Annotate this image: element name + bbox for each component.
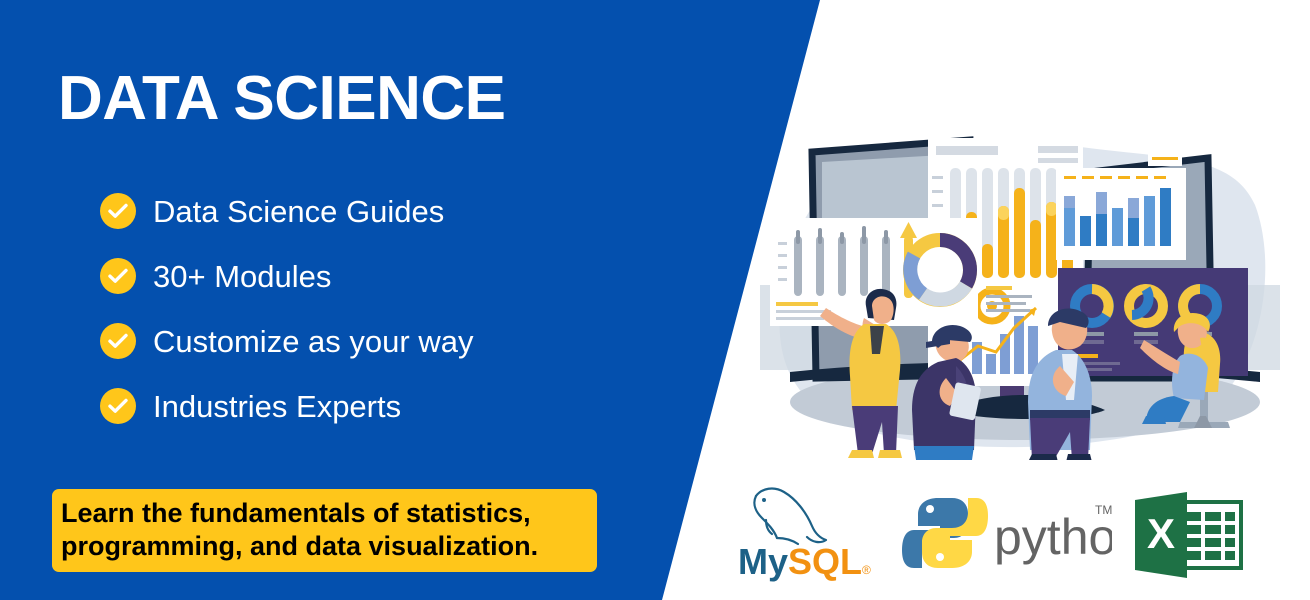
svg-text:®: ® xyxy=(862,563,871,577)
svg-text:My: My xyxy=(738,541,788,582)
check-circle-icon xyxy=(100,388,136,424)
check-circle-icon xyxy=(100,323,136,359)
check-circle-icon xyxy=(100,193,136,229)
svg-text:X: X xyxy=(1147,510,1175,557)
data-analytics-team-illustration xyxy=(760,110,1280,460)
check-circle-icon xyxy=(100,258,136,294)
highlight-line-2: programming, and data visualization. xyxy=(61,530,589,563)
excel-logo: X xyxy=(1125,488,1255,583)
highlight-line-1: Learn the fundamentals of statistics, xyxy=(61,497,589,530)
list-item-label: Industries Experts xyxy=(153,391,401,422)
left-content: DATA SCIENCE Data Science Guides 30+ Mod… xyxy=(0,0,660,600)
list-item-label: Data Science Guides xyxy=(153,196,444,227)
list-item-label: 30+ Modules xyxy=(153,261,331,292)
technology-logos: My SQL ® python TM xyxy=(700,478,1300,588)
svg-text:TM: TM xyxy=(1095,503,1112,517)
list-item-label: Customize as your way xyxy=(153,326,473,357)
list-item: Customize as your way xyxy=(100,316,473,366)
svg-text:SQL: SQL xyxy=(788,541,862,582)
python-logo: python TM xyxy=(882,492,1112,572)
highlight-callout: Learn the fundamentals of statistics, pr… xyxy=(52,489,597,572)
mysql-logo: My SQL ® xyxy=(722,482,897,582)
list-item: Data Science Guides xyxy=(100,186,473,236)
banner-root: DATA SCIENCE Data Science Guides 30+ Mod… xyxy=(0,0,1310,600)
list-item: Industries Experts xyxy=(100,381,473,431)
feature-list: Data Science Guides 30+ Modules Customiz… xyxy=(100,186,473,446)
list-item: 30+ Modules xyxy=(100,251,473,301)
svg-text:python: python xyxy=(994,509,1112,565)
page-title: DATA SCIENCE xyxy=(58,68,506,130)
